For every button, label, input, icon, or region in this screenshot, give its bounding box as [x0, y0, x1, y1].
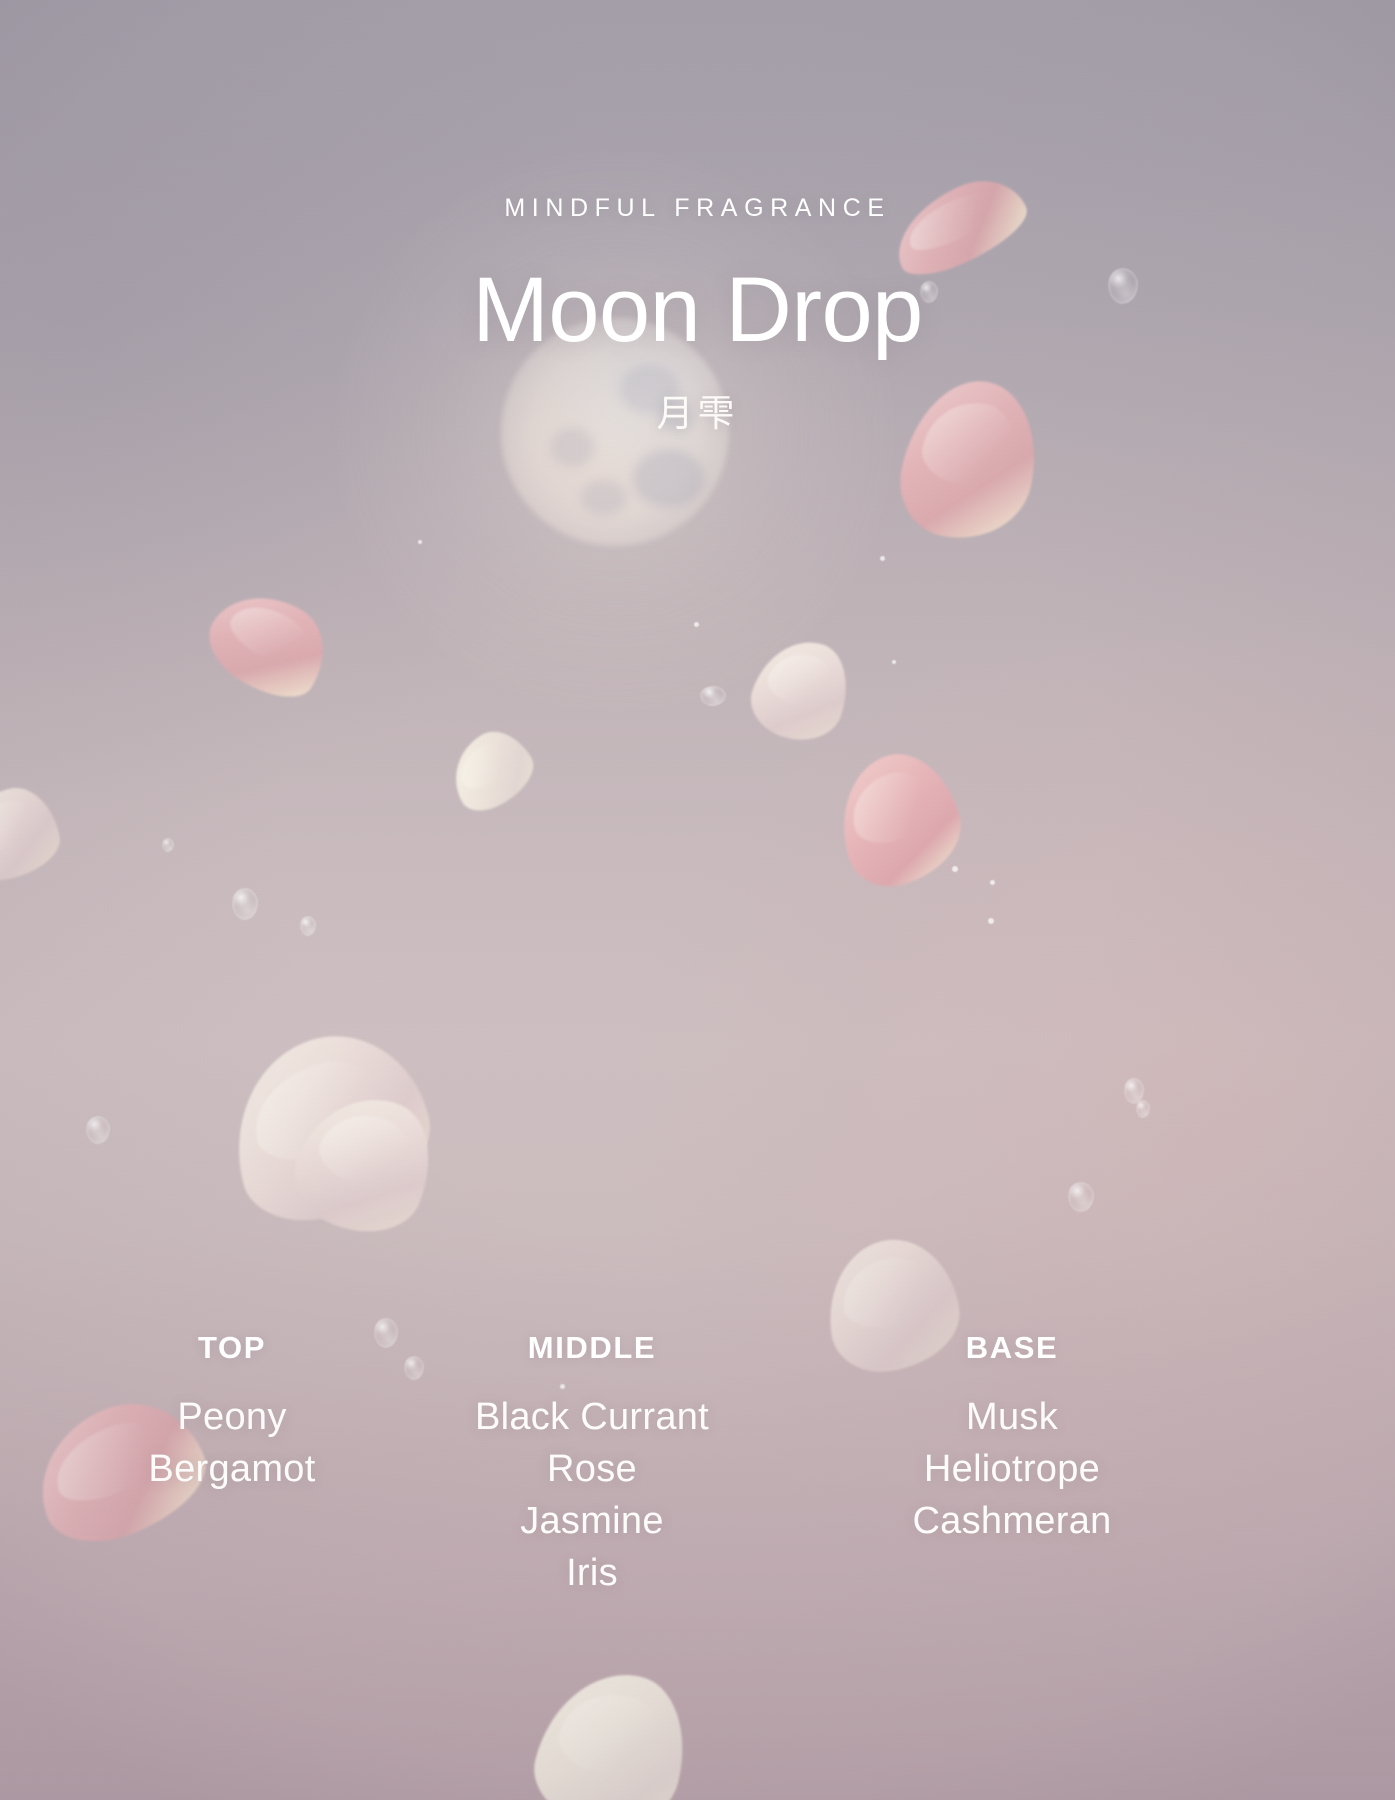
note-column-base: BASE Musk Heliotrope Cashmeran	[802, 1332, 1222, 1599]
note-item: Cashmeran	[802, 1495, 1222, 1547]
japanese-subtitle: 月雫	[0, 395, 1395, 432]
note-item: Musk	[802, 1391, 1222, 1443]
note-list-base: Musk Heliotrope Cashmeran	[802, 1391, 1222, 1547]
page-title: Moon Drop	[0, 263, 1395, 359]
note-column-top: TOP Peony Bergamot	[82, 1332, 382, 1599]
note-item: Heliotrope	[802, 1443, 1222, 1495]
note-item: Rose	[382, 1443, 802, 1495]
note-heading-base: BASE	[802, 1332, 1222, 1363]
note-list-top: Peony Bergamot	[82, 1391, 382, 1495]
note-heading-top: TOP	[82, 1332, 382, 1363]
note-item: Peony	[82, 1391, 382, 1443]
note-item: Iris	[382, 1547, 802, 1599]
note-item: Jasmine	[382, 1495, 802, 1547]
note-list-middle: Black Currant Rose Jasmine Iris	[382, 1391, 802, 1599]
fragrance-notes: TOP Peony Bergamot MIDDLE Black Currant …	[0, 1332, 1395, 1599]
eyebrow-label: MINDFUL FRAGRANCE	[0, 196, 1395, 221]
note-column-middle: MIDDLE Black Currant Rose Jasmine Iris	[382, 1332, 802, 1599]
note-item: Bergamot	[82, 1443, 382, 1495]
fragrance-poster: MINDFUL FRAGRANCE Moon Drop 月雫 TOP Peony…	[0, 0, 1395, 1800]
poster-header: MINDFUL FRAGRANCE Moon Drop 月雫	[0, 196, 1395, 432]
note-heading-middle: MIDDLE	[382, 1332, 802, 1363]
note-item: Black Currant	[382, 1391, 802, 1443]
